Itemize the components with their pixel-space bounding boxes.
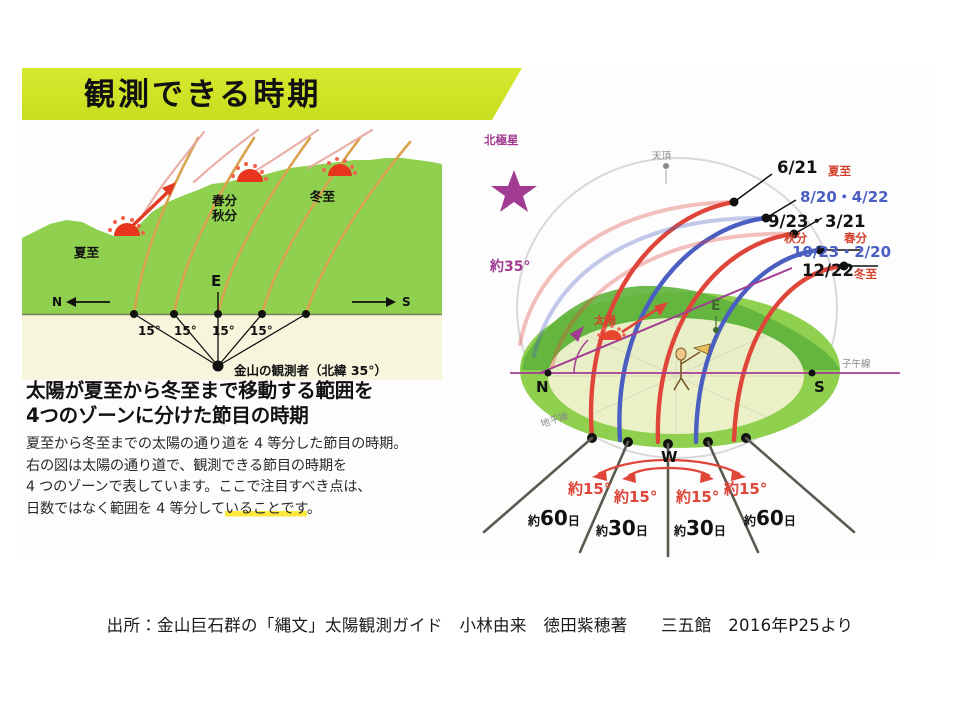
- zenith-label: 天頂: [652, 148, 671, 162]
- zone-days-4-prefix: 約: [744, 514, 756, 528]
- zenith-point: [663, 163, 669, 169]
- zone-days-3-suffix: 日: [714, 524, 726, 538]
- azimuth-angle-3: 15°: [212, 324, 235, 338]
- banner-title: 観測できる時期: [84, 76, 321, 114]
- cardinal-label-w: W: [661, 448, 678, 466]
- date-label-9-23-3-21: 9/23・3/21: [768, 208, 865, 232]
- zone-days-4: 約60日: [744, 506, 796, 530]
- date-label-12-22: 12/22: [802, 261, 854, 280]
- zone-days-2-suffix: 日: [636, 524, 648, 538]
- source-caption: 出所：金山巨石群の「縄文」太陽観測ガイド 小林由来 徳田紫穂著 三五館 2016…: [0, 612, 960, 636]
- azimuth-angle-2: 15°: [174, 324, 197, 338]
- azimuth-angle-1: 15°: [138, 324, 161, 338]
- explanation-heading-line2: 4つのゾーンに分けた節目の時期: [26, 403, 456, 428]
- zone-days-1-prefix: 約: [528, 514, 540, 528]
- date-label-6-21: 6/21: [777, 158, 817, 177]
- zone-days-1-suffix: 日: [568, 514, 580, 528]
- zone-days-2-prefix: 約: [596, 524, 608, 538]
- polaris-label: 北極星: [484, 132, 519, 148]
- zone-days-3-num: 30: [686, 516, 714, 540]
- cardinal-label-s: S: [814, 378, 825, 396]
- zone-days-1: 約60日: [528, 506, 580, 530]
- celestial-sphere-sun-path-diagram: 北極星 約35° 天頂 太陽 子午線 地平線 N S W E: [462, 108, 930, 560]
- slide-canvas: 観測できる時期: [0, 0, 960, 720]
- observer-label: 金山の観測者（北緯 35°）: [234, 360, 387, 379]
- explanation-heading-line1: 太陽が夏至から冬至まで移動する範囲を: [26, 378, 456, 403]
- zone-days-3: 約30日: [674, 516, 726, 540]
- star-icon: [491, 170, 537, 212]
- azimuth-angle-4: 15°: [250, 324, 273, 338]
- cardinal-label-n: N: [536, 378, 549, 396]
- explanation-text-block: 太陽が夏至から冬至まで移動する範囲を 4つのゾーンに分けた節目の時期 夏至から冬…: [26, 378, 456, 520]
- sun-label-winter-solstice: 冬至: [310, 190, 335, 204]
- sunrise-azimuth-diagram: N S E 夏至 春分 秋分 冬至 15° 15° 15° 15° 金山の観測者…: [22, 120, 442, 380]
- compass-label-n: N: [52, 295, 62, 309]
- date-term-winter-solstice: 冬至: [854, 266, 877, 282]
- zone-angle-4: 約15°: [724, 478, 767, 499]
- zone-angle-3: 約15°: [676, 486, 719, 507]
- date-label-8-20-4-22: 8/20・4/22: [800, 186, 889, 207]
- sun-label-equinox-spring: 春分: [212, 194, 237, 208]
- zone-days-2-num: 30: [608, 516, 636, 540]
- south-point: [809, 370, 816, 377]
- explanation-body-line4: 日数ではなく範囲を 4 等分していることです。: [26, 499, 456, 521]
- zone-angle-2: 約15°: [614, 486, 657, 507]
- date-term-summer-solstice: 夏至: [828, 163, 851, 179]
- meridian-label: 子午線: [842, 356, 871, 370]
- explanation-body-line1: 夏至から冬至までの太陽の通り道を 4 等分した節目の時期。: [26, 434, 456, 456]
- sun-label-summer-solstice: 夏至: [74, 246, 99, 260]
- north-point: [545, 370, 552, 377]
- explanation-highlight: いることです: [225, 501, 307, 517]
- sun-label-equinox-autumn: 秋分: [212, 209, 237, 223]
- figure-image: 観測できる時期: [22, 68, 930, 560]
- zone-days-1-num: 60: [540, 506, 568, 530]
- zone-days-2: 約30日: [596, 516, 648, 540]
- compass-label-e: E: [211, 272, 221, 290]
- explanation-body: 夏至から冬至までの太陽の通り道を 4 等分した節目の時期。 右の図は太陽の通り道…: [26, 434, 456, 520]
- explanation-body-line4-b: 。: [307, 501, 321, 517]
- zone-days-4-suffix: 日: [784, 514, 796, 528]
- zone-angle-1: 約15°: [568, 478, 611, 499]
- compass-label-s: S: [402, 295, 411, 309]
- date-label-10-23-2-20: 10/23・2/20: [792, 241, 891, 262]
- explanation-body-line2: 右の図は太陽の通り道で、観測できる節目の時期を: [26, 456, 456, 478]
- zone-days-4-num: 60: [756, 506, 784, 530]
- cardinal-label-e: E: [711, 298, 721, 314]
- altitude-label: 約35°: [490, 256, 530, 276]
- explanation-body-line4-a: 日数ではなく範囲を 4 等分して: [26, 501, 225, 517]
- sun-text-label: 太陽: [594, 312, 616, 328]
- explanation-body-line3: 4 つのゾーンで表しています。ここで注目すべき点は、: [26, 477, 456, 499]
- zone-days-3-prefix: 約: [674, 524, 686, 538]
